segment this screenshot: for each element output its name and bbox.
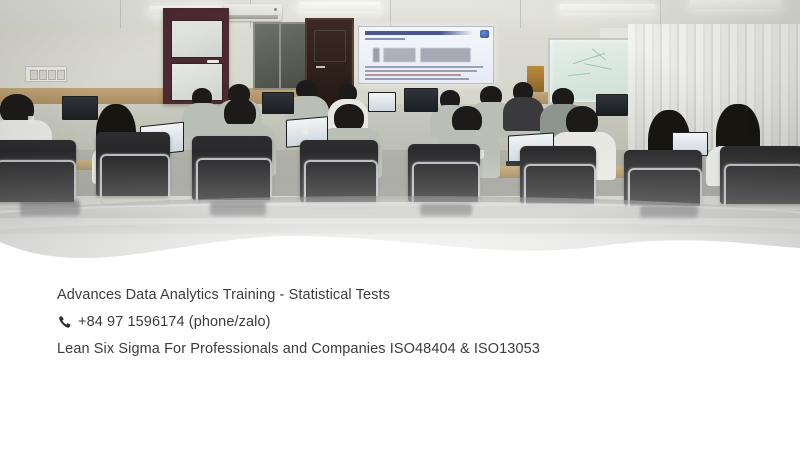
certification-line: Lean Six Sigma For Professionals and Com…	[57, 341, 540, 357]
slide-title-line	[365, 31, 473, 35]
slide-subtitle-line	[365, 38, 405, 40]
projection-screen	[358, 26, 494, 84]
chair-reflection	[210, 202, 266, 216]
chair-frame	[724, 164, 800, 212]
slide-note-line	[365, 74, 461, 76]
ceiling-light	[300, 2, 380, 11]
laptop	[404, 88, 438, 112]
door-handle	[207, 60, 219, 63]
slide-text-line	[365, 70, 477, 72]
training-slide: Advances Data Analytics Training - Stati…	[0, 0, 800, 450]
ceiling-light	[560, 4, 655, 13]
photo-scene	[0, 0, 800, 262]
table-reflection-band	[0, 224, 800, 234]
laptop	[262, 92, 294, 114]
laptop	[368, 92, 396, 112]
air-conditioner	[224, 4, 282, 21]
partition-mullion	[279, 24, 281, 88]
caption-block: Advances Data Analytics Training - Stati…	[0, 262, 800, 450]
cup	[28, 116, 34, 125]
classroom-photo	[0, 0, 800, 262]
ac-indicator	[274, 8, 277, 11]
door-panel	[314, 30, 346, 62]
ceiling-light	[690, 0, 780, 9]
glass-partition	[253, 22, 307, 90]
slide-text-line	[365, 66, 483, 68]
phone-icon	[57, 315, 72, 330]
slide-logo	[480, 30, 489, 38]
door-handle	[316, 66, 325, 68]
light-switch-plate	[25, 66, 67, 82]
laptop	[596, 94, 628, 116]
laptop	[62, 96, 98, 120]
training-title: Advances Data Analytics Training - Stati…	[57, 287, 390, 303]
phone-number: +84 97 1596174 (phone/zalo)	[78, 314, 271, 330]
chair-reflection	[420, 204, 472, 216]
ac-vent	[228, 15, 278, 19]
chair-reflection	[20, 200, 80, 216]
chair-frame	[100, 154, 170, 206]
slide-text-line	[365, 78, 469, 80]
chair-reflection	[640, 206, 698, 218]
door-glass-panel	[171, 20, 223, 58]
slide-formula	[373, 48, 479, 62]
cup	[302, 126, 308, 135]
